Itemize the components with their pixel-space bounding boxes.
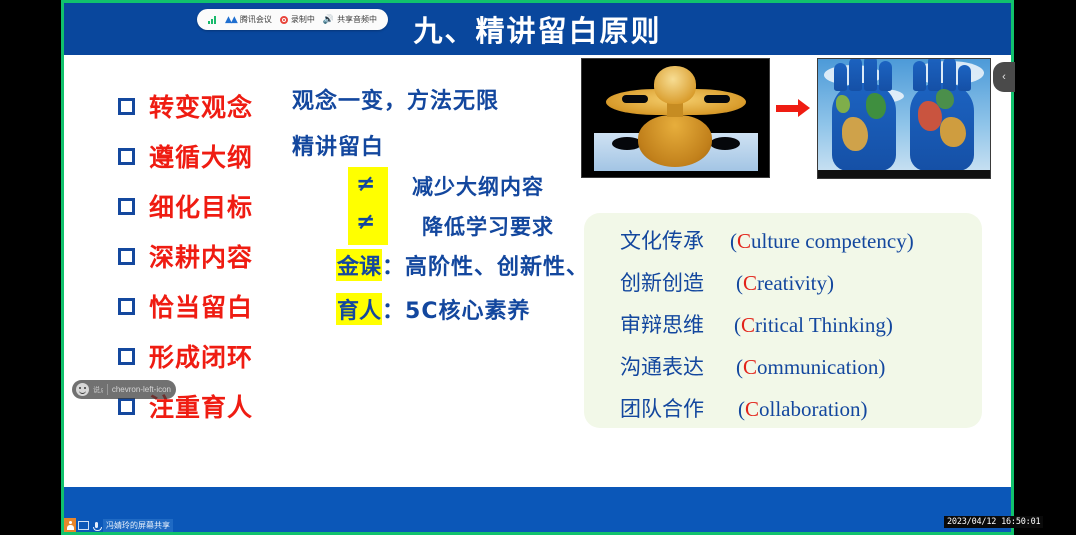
clay-figure-photo	[581, 58, 770, 178]
row-value: 5C核心素养	[405, 293, 530, 325]
five-c-row: 创新创造 (Creativity)	[620, 267, 834, 297]
five-c-en: (Culture competency)	[730, 229, 914, 254]
record-dot-icon	[280, 16, 288, 24]
photo-detail	[818, 170, 990, 178]
photo-detail	[654, 66, 696, 104]
signal-bars-icon	[208, 16, 217, 24]
smiley-icon[interactable]	[76, 383, 89, 396]
photo-detail	[622, 95, 648, 103]
five-c-zh: 审辩思维	[620, 309, 704, 339]
recording-label: 录制中	[291, 14, 315, 25]
list-item: 恰当留白	[118, 281, 308, 331]
five-c-en: (Collaboration)	[738, 397, 868, 422]
divider	[107, 384, 108, 395]
windows-taskbar: 冯婧玲的屏幕共享	[64, 487, 1011, 532]
row-separator: ：	[382, 293, 405, 325]
bullet-label: 形成闭环	[149, 338, 253, 374]
list-item: 遵循大纲	[118, 131, 308, 181]
taskbar-share-item[interactable]: 冯婧玲的屏幕共享	[64, 518, 173, 532]
list-item: 转变观念	[118, 81, 308, 131]
not-equal-icon: ≠	[356, 171, 375, 197]
audio-share-status[interactable]: 🔊 共享音频中	[323, 14, 377, 25]
photo-detail	[910, 83, 974, 171]
middle-line-1: 观念一变，方法无限	[292, 83, 499, 115]
app-name-label: 腾讯会议	[240, 14, 272, 25]
bullet-label: 恰当留白	[149, 288, 253, 324]
screen-root: 九、精讲留白原则 ▲▲ 腾讯会议 录制中 🔊 共享音频中 转变观念	[0, 0, 1076, 535]
checkbox-icon	[118, 248, 135, 265]
checkbox-icon	[118, 298, 135, 315]
bullet-label: 细化目标	[149, 188, 253, 224]
monitor-icon[interactable]	[78, 518, 89, 532]
bullet-label: 遵循大纲	[149, 138, 253, 174]
meeting-app-name: ▲▲ 腾讯会议	[225, 14, 272, 25]
red-right-arrow-icon	[776, 103, 810, 113]
key-value-row: 育人 ： 5C核心素养	[336, 293, 531, 325]
row-separator: ：	[382, 249, 405, 281]
photo-detail	[638, 115, 712, 167]
list-item: 细化目标	[118, 181, 308, 231]
five-c-zh: 创新创造	[620, 267, 704, 297]
five-c-row: 团队合作 (Collaboration)	[620, 393, 868, 423]
bullet-label: 转变观念	[149, 88, 253, 124]
checkbox-icon	[118, 398, 135, 415]
middle-line-2: 精讲留白	[292, 129, 384, 161]
signal-strength	[208, 16, 217, 24]
shared-slide: 九、精讲留白原则 ▲▲ 腾讯会议 录制中 🔊 共享音频中 转变观念	[64, 3, 1011, 487]
five-c-en: (Creativity)	[736, 271, 834, 296]
photo-detail	[582, 171, 769, 177]
row-key: 金课	[336, 249, 382, 281]
chat-input-bar[interactable]: 说点什么... chevron-left-icon	[72, 380, 176, 399]
five-c-en: (Communication)	[736, 355, 885, 380]
five-c-row: 沟通表达 (Communication)	[620, 351, 885, 381]
photo-detail	[832, 83, 896, 171]
five-c-zh: 文化传承	[620, 225, 704, 255]
meeting-status-pill[interactable]: ▲▲ 腾讯会议 录制中 🔊 共享音频中	[197, 9, 388, 30]
neq-item-label: 减少大纲内容	[412, 171, 544, 201]
neq-item-label: 降低学习要求	[422, 211, 554, 241]
five-c-zh: 沟通表达	[620, 351, 704, 381]
tencent-meeting-logo-icon: ▲▲	[225, 15, 237, 25]
speaker-icon: 🔊	[323, 15, 334, 25]
bullet-label: 深耕内容	[149, 238, 253, 274]
audio-share-label: 共享音频中	[337, 14, 377, 25]
row-key: 育人	[336, 293, 382, 325]
five-c-en: (Critical Thinking)	[734, 313, 893, 338]
checkbox-icon	[118, 198, 135, 215]
timestamp-overlay: 2023/04/12 16:50:01	[944, 516, 1043, 528]
checkbox-icon	[118, 98, 135, 115]
chevron-left-icon[interactable]: chevron-left-icon	[112, 385, 172, 394]
five-c-zh: 团队合作	[620, 393, 704, 423]
five-c-row: 文化传承 (Culture competency)	[620, 225, 914, 255]
vlc-cone-icon[interactable]	[64, 518, 76, 532]
photo-detail	[704, 95, 730, 103]
not-equal-icon: ≠	[356, 209, 375, 235]
checkbox-icon	[118, 148, 135, 165]
five-c-row: 审辩思维 (Critical Thinking)	[620, 309, 893, 339]
world-map-hands-photo	[817, 58, 991, 179]
recording-status[interactable]: 录制中	[280, 14, 315, 25]
chat-input[interactable]: 说点什么...	[93, 385, 103, 395]
microphone-icon[interactable]	[91, 518, 101, 532]
taskbar-share-label: 冯婧玲的屏幕共享	[103, 519, 173, 532]
checkbox-icon	[118, 348, 135, 365]
collapse-panel-button[interactable]: ‹	[993, 62, 1015, 92]
list-item: 深耕内容	[118, 231, 308, 281]
photo-detail	[710, 137, 740, 150]
list-item: 形成闭环	[118, 331, 308, 381]
principles-list: 转变观念 遵循大纲 细化目标 深耕内容 恰当留白 形成闭环	[118, 81, 308, 431]
